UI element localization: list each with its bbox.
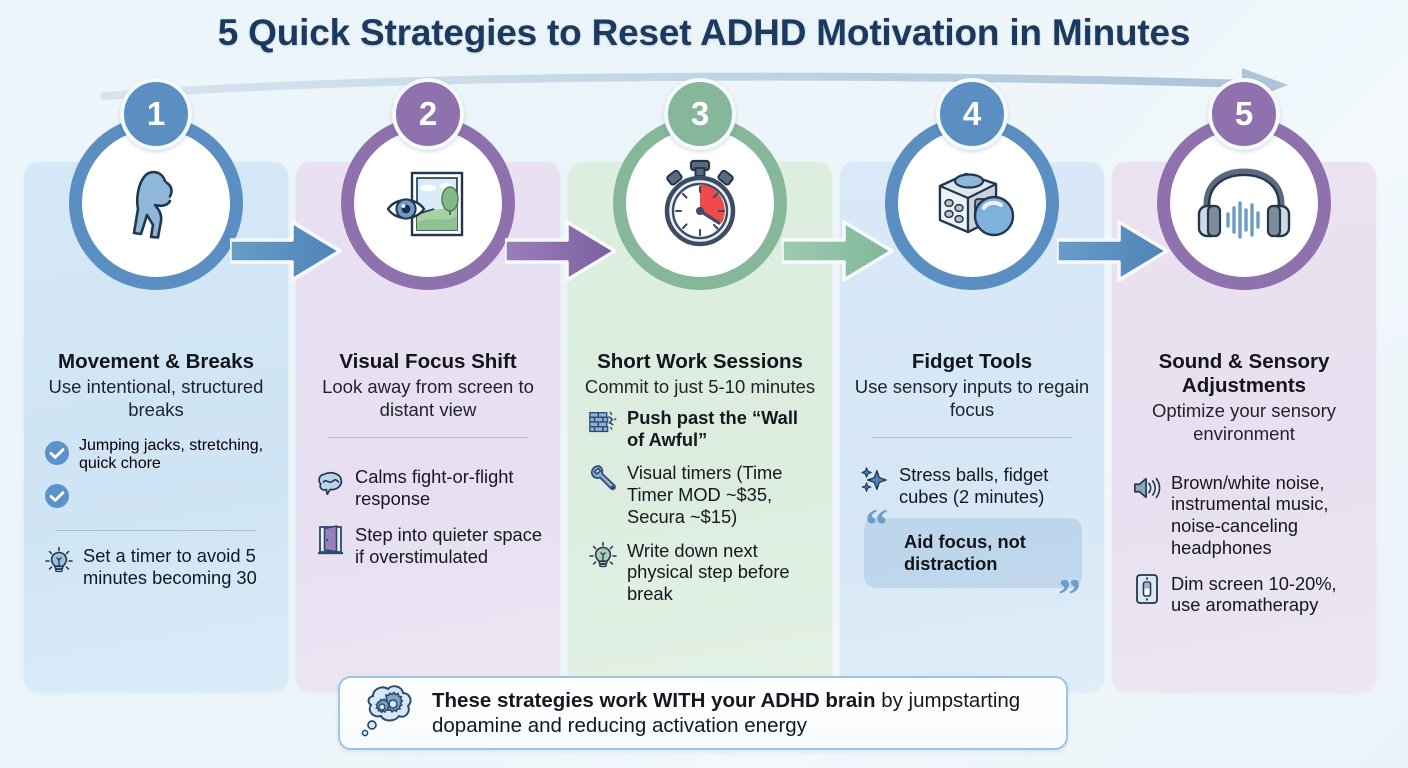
step-number-badge: 2 xyxy=(392,78,464,150)
open-quote-icon: “ xyxy=(865,502,888,548)
bullet-text: Stress balls, fidget cubes (2 minutes) xyxy=(899,464,1088,508)
lightbulb-icon xyxy=(44,546,74,576)
card-body: Fidget Tools Use sensory inputs to regai… xyxy=(840,350,1104,588)
divider xyxy=(328,437,528,438)
list-item: Stress balls, fidget cubes (2 minutes) xyxy=(860,464,1088,508)
bullet-text: Dim screen 10-20%, use aromatherapy xyxy=(1171,573,1360,617)
check-circle-icon xyxy=(44,483,70,514)
lightbulb-icon xyxy=(588,541,618,571)
card-title: Sound & Sensory Adjustments xyxy=(1122,350,1366,398)
strategy-card-5[interactable]: 5 Sound & Sensory Adjustments Optimize y… xyxy=(1112,162,1376,692)
list-item: Dim screen 10-20%, use aromatherapy xyxy=(1132,573,1360,617)
list-item: Write down next physical step before bre… xyxy=(588,540,816,605)
list-item: Visual timers (Time Timer MOD ~$35, Secu… xyxy=(588,462,816,527)
list-item: Calms fight-or-flight response xyxy=(316,466,544,510)
bullet-text: Write down next physical step before bre… xyxy=(627,540,816,605)
bullet-text: Push past the “Wall of Awful” xyxy=(627,407,816,451)
strategy-card-1[interactable]: 1 Movement & Breaks Use intentional, str… xyxy=(24,162,288,692)
tip-list: Set a timer to avoid 5 minutes becoming … xyxy=(34,545,278,589)
check-icon-column xyxy=(44,437,70,514)
quote-callout: “ Aid focus, not distraction ” xyxy=(864,518,1082,588)
wrench-icon xyxy=(588,463,618,493)
card-title: Fidget Tools xyxy=(850,350,1094,374)
bullet-text: Brown/white noise, instrumental music, n… xyxy=(1171,472,1360,559)
list-item: Push past the “Wall of Awful” xyxy=(588,407,816,451)
bullet-text: Step into quieter space if overstimulate… xyxy=(355,524,544,568)
card-title: Movement & Breaks xyxy=(34,350,278,374)
bullet-list: Jumping jacks, stretching, quick chore xyxy=(34,437,278,514)
brick-wall-icon xyxy=(588,408,618,438)
open-door-icon xyxy=(316,525,346,555)
brain-icon xyxy=(316,467,346,497)
divider xyxy=(872,437,1072,438)
close-quote-icon: ” xyxy=(1058,572,1081,618)
bullet-list: Calms fight-or-flight response Step into… xyxy=(306,466,550,567)
step-circle-4: 4 xyxy=(885,116,1059,290)
tip-text: Set a timer to avoid 5 minutes becoming … xyxy=(83,545,272,589)
check-circle-icon xyxy=(44,440,70,471)
summary-banner: These strategies work WITH your ADHD bra… xyxy=(338,676,1068,750)
quote-text: Aid focus, not distraction xyxy=(904,531,1066,575)
step-number-badge: 1 xyxy=(120,78,192,150)
strategy-card-2[interactable]: 2 Visual Focus Shift Look away from scre… xyxy=(296,162,560,692)
step-circle-2: 2 xyxy=(341,116,515,290)
bullet-list: Push past the “Wall of Awful” Visual tim… xyxy=(578,407,822,605)
card-body: Sound & Sensory Adjustments Optimize you… xyxy=(1112,350,1376,623)
list-item: Set a timer to avoid 5 minutes becoming … xyxy=(44,545,272,589)
infographic-root: 5 Quick Strategies to Reset ADHD Motivat… xyxy=(0,0,1408,768)
card-subtitle: Look away from screen to distant view xyxy=(306,376,550,421)
card-subtitle: Optimize your sensory environment xyxy=(1122,400,1366,445)
card-title: Short Work Sessions xyxy=(578,350,822,374)
list-item: Step into quieter space if overstimulate… xyxy=(316,524,544,568)
speaker-waves-icon xyxy=(1132,473,1162,503)
sparkles-icon xyxy=(860,465,890,495)
card-subtitle: Use intentional, structured breaks xyxy=(34,376,278,421)
bullet-text: Calms fight-or-flight response xyxy=(355,466,544,510)
bullet-text: Jumping jacks, stretching, quick chore xyxy=(79,437,272,473)
card-title: Visual Focus Shift xyxy=(306,350,550,374)
strategy-card-3[interactable]: 3 Short Work Sessions Commit to just 5-1… xyxy=(568,162,832,692)
card-subtitle: Use sensory inputs to regain focus xyxy=(850,376,1094,421)
card-body: Short Work Sessions Commit to just 5-10 … xyxy=(568,350,832,612)
list-item: Brown/white noise, instrumental music, n… xyxy=(1132,472,1360,559)
step-number-badge: 5 xyxy=(1208,78,1280,150)
strategy-cards: 1 Movement & Breaks Use intentional, str… xyxy=(24,162,1390,692)
page-title: 5 Quick Strategies to Reset ADHD Motivat… xyxy=(0,12,1408,54)
light-switch-icon xyxy=(1132,574,1162,604)
thought-cloud-gears-icon xyxy=(356,682,422,745)
card-subtitle: Commit to just 5-10 minutes xyxy=(578,376,822,399)
summary-text: These strategies work WITH your ADHD bra… xyxy=(432,688,1050,738)
card-body: Visual Focus Shift Look away from screen… xyxy=(296,350,560,574)
step-circle-5: 5 xyxy=(1157,116,1331,290)
strategy-card-4[interactable]: 4 Fidget Tools Use sensory inputs to reg… xyxy=(840,162,1104,692)
card-body: Movement & Breaks Use intentional, struc… xyxy=(24,350,288,596)
list-item: Jumping jacks, stretching, quick chore xyxy=(44,437,272,514)
step-number-badge: 4 xyxy=(936,78,1008,150)
divider xyxy=(56,530,256,531)
summary-bold: These strategies work WITH your ADHD bra… xyxy=(432,689,876,712)
bullet-text: Visual timers (Time Timer MOD ~$35, Secu… xyxy=(627,462,816,527)
bullet-list: Brown/white noise, instrumental music, n… xyxy=(1122,472,1366,617)
step-number-badge: 3 xyxy=(664,78,736,150)
step-circle-1: 1 xyxy=(69,116,243,290)
step-circle-3: 3 xyxy=(613,116,787,290)
